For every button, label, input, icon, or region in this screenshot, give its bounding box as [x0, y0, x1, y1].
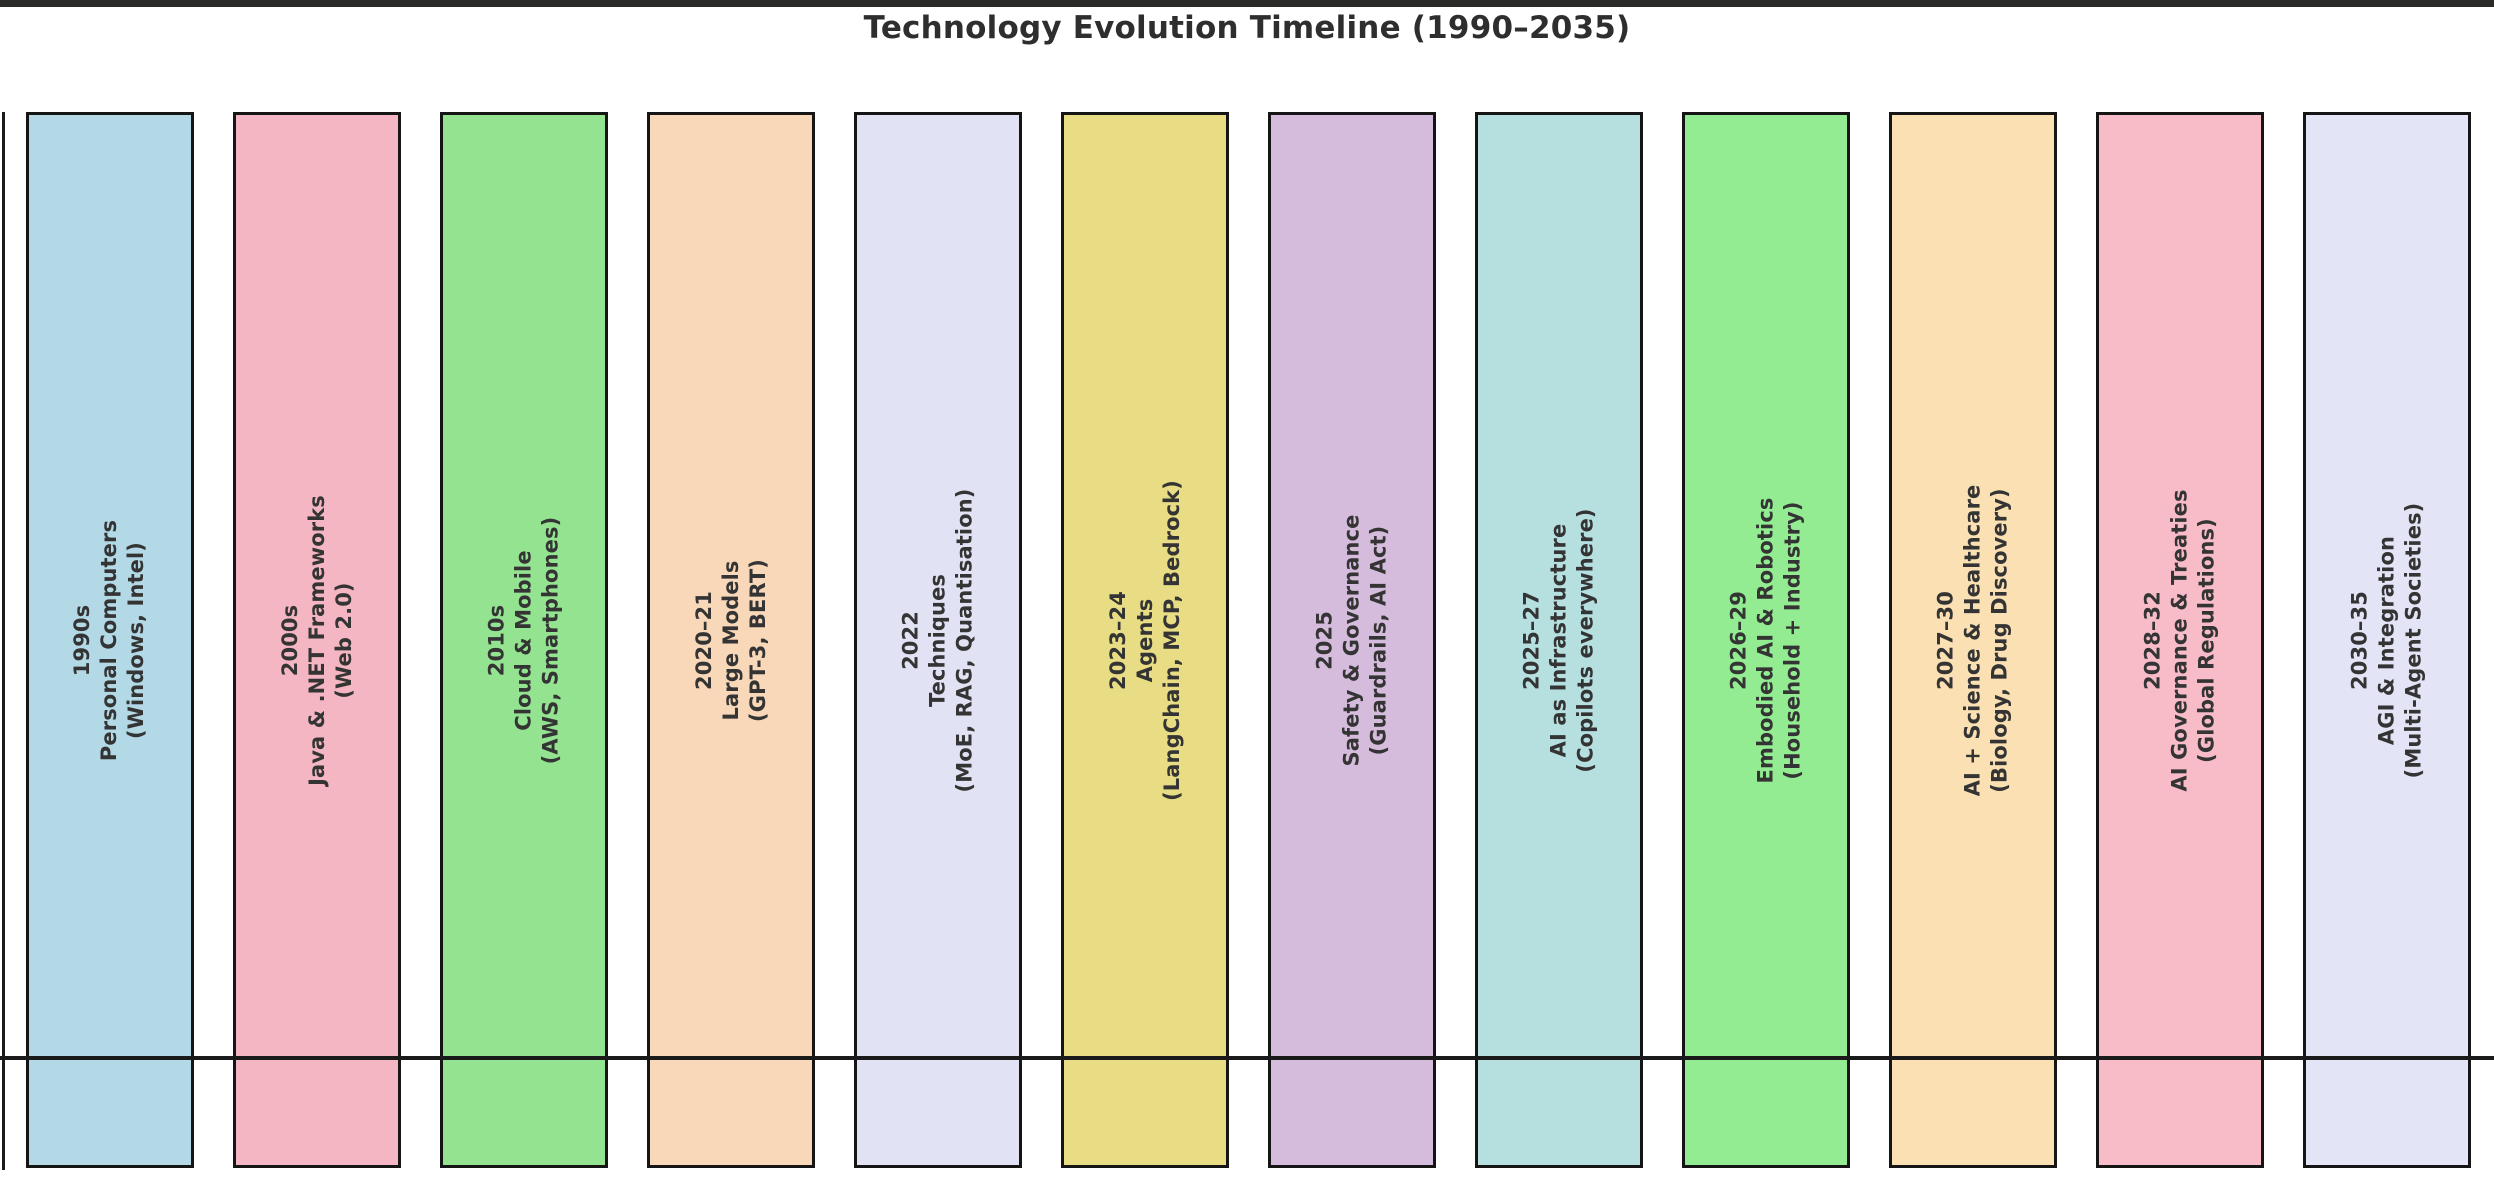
bar-period: 2000s: [277, 495, 304, 786]
timeline-bar-label: 2026–29Embodied AI & Robotics(Household …: [1726, 497, 1807, 783]
bar-topic: AI Governance & Treaties: [2167, 489, 2194, 791]
bar-detail: (Global Regulations): [2194, 489, 2221, 791]
bar-period: 2020–21: [691, 559, 718, 722]
timeline-bar-label: 2025–27AI as Infrastructure(Copilots eve…: [1519, 508, 1600, 772]
timeline-bar-label: 2022Techniques(MoE, RAG, Quantisation): [898, 488, 979, 792]
bar-detail: (GPT-3, BERT): [745, 559, 772, 722]
bar-topic: AI + Science & Healthcare: [1960, 484, 1987, 796]
timeline-bar[interactable]: 2025Safety & Governance(Guardrails, AI A…: [1268, 112, 1436, 1168]
bar-detail: (AWS, Smartphones): [538, 516, 565, 764]
bar-topic: Safety & Governance: [1339, 514, 1366, 766]
bar-detail: (LangChain, MCP, Bedrock): [1159, 480, 1186, 801]
timeline-bar[interactable]: 2023–24Agents(LangChain, MCP, Bedrock): [1061, 112, 1229, 1168]
bar-detail: (Web 2.0): [331, 495, 358, 786]
bar-detail: (Household + Industry): [1780, 497, 1807, 783]
timeline-bar[interactable]: 2027–30AI + Science & Healthcare(Biology…: [1889, 112, 2057, 1168]
timeline-bar-label: 2027–30AI + Science & Healthcare(Biology…: [1933, 484, 2014, 796]
timeline-bar-label: 2023–24Agents(LangChain, MCP, Bedrock): [1105, 480, 1186, 801]
bar-detail: (MoE, RAG, Quantisation): [952, 488, 979, 792]
timeline-bar[interactable]: 2030–35AGI & Integration(Multi-Agent Soc…: [2303, 112, 2471, 1168]
bar-period: 2010s: [484, 516, 511, 764]
timeline-bar[interactable]: 2000sJava & .NET Frameworks(Web 2.0): [233, 112, 401, 1168]
bar-topic: Techniques: [925, 488, 952, 792]
bar-detail: (Windows, Intel): [124, 519, 151, 760]
timeline-bar-label: 1990sPersonal Computers(Windows, Intel): [70, 519, 151, 760]
plot-area: 1990sPersonal Computers(Windows, Intel)2…: [0, 112, 2494, 1168]
bar-detail: (Guardrails, AI Act): [1366, 514, 1393, 766]
bar-topic: AI as Infrastructure: [1546, 508, 1573, 772]
bar-detail: (Multi-Agent Societies): [2401, 502, 2428, 778]
bar-period: 2026–29: [1726, 497, 1753, 783]
chart-title: Technology Evolution Timeline (1990–2035…: [0, 8, 2494, 48]
timeline-bar[interactable]: 2025–27AI as Infrastructure(Copilots eve…: [1475, 112, 1643, 1168]
timeline-bar[interactable]: 2022Techniques(MoE, RAG, Quantisation): [854, 112, 1022, 1168]
bar-period: 2030–35: [2347, 502, 2374, 778]
bar-period: 1990s: [70, 519, 97, 760]
timeline-bar[interactable]: 2026–29Embodied AI & Robotics(Household …: [1682, 112, 1850, 1168]
bar-topic: Personal Computers: [97, 519, 124, 760]
timeline-bar-label: 2000sJava & .NET Frameworks(Web 2.0): [277, 495, 358, 786]
y-axis-spine: [2, 112, 5, 1170]
timeline-bar[interactable]: 2010sCloud & Mobile(AWS, Smartphones): [440, 112, 608, 1168]
bar-topic: Java & .NET Frameworks: [304, 495, 331, 786]
bar-period: 2027–30: [1933, 484, 1960, 796]
window-top-strip: [0, 0, 2494, 7]
timeline-bar[interactable]: 2020–21Large Models(GPT-3, BERT): [647, 112, 815, 1168]
bar-topic: Agents: [1132, 480, 1159, 801]
timeline-bar[interactable]: 1990sPersonal Computers(Windows, Intel): [26, 112, 194, 1168]
bar-topic: Embodied AI & Robotics: [1753, 497, 1780, 783]
bar-period: 2025–27: [1519, 508, 1546, 772]
timeline-bar-label: 2010sCloud & Mobile(AWS, Smartphones): [484, 516, 565, 764]
bar-detail: (Copilots everywhere): [1573, 508, 1600, 772]
bar-topic: AGI & Integration: [2374, 502, 2401, 778]
bar-topic: Large Models: [718, 559, 745, 722]
timeline-bar[interactable]: 2028–32AI Governance & Treaties(Global R…: [2096, 112, 2264, 1168]
timeline-bar-label: 2025Safety & Governance(Guardrails, AI A…: [1312, 514, 1393, 766]
bar-topic: Cloud & Mobile: [511, 516, 538, 764]
bar-period: 2023–24: [1105, 480, 1132, 801]
x-axis-spine: [0, 1056, 2494, 1060]
timeline-bar-label: 2030–35AGI & Integration(Multi-Agent Soc…: [2347, 502, 2428, 778]
timeline-bar-label: 2020–21Large Models(GPT-3, BERT): [691, 559, 772, 722]
timeline-bar-label: 2028–32AI Governance & Treaties(Global R…: [2140, 489, 2221, 791]
chart-figure: Technology Evolution Timeline (1990–2035…: [0, 0, 2494, 1178]
bar-period: 2025: [1312, 514, 1339, 766]
bar-period: 2022: [898, 488, 925, 792]
bar-period: 2028–32: [2140, 489, 2167, 791]
bar-detail: (Biology, Drug Discovery): [1987, 484, 2014, 796]
